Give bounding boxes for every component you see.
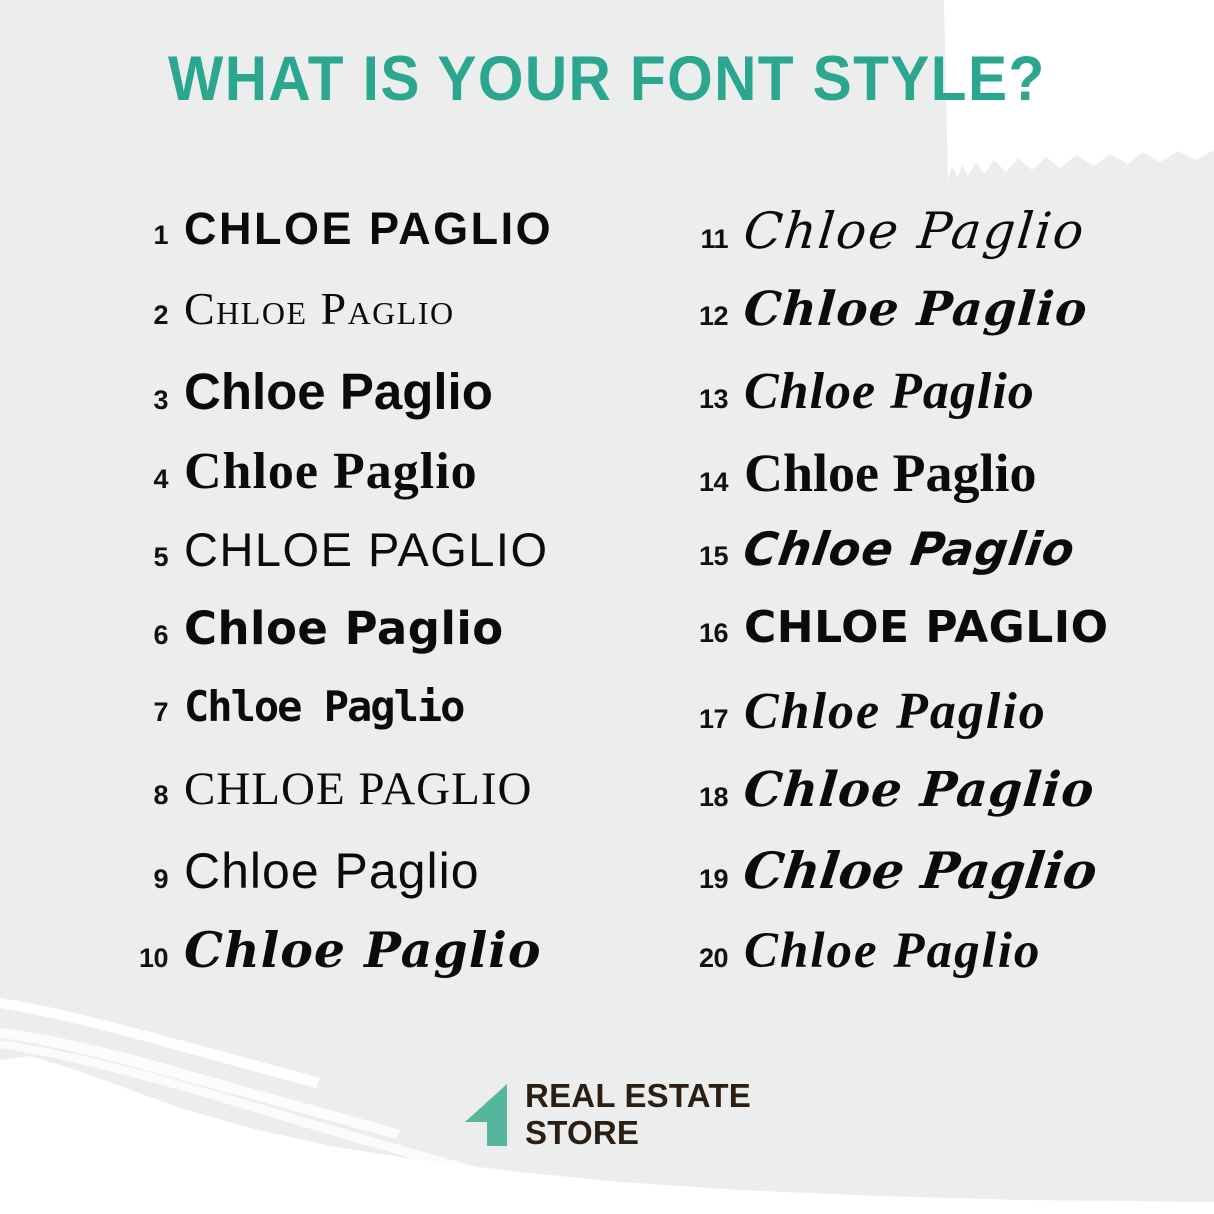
font-column-right: 11 Chloe Paglio 12 Chloe Paglio 13 Chloe…	[688, 206, 1108, 1026]
font-column-left: 1 CHLOE PAGLIO 2 Chloe Paglio 3 Chloe Pa…	[128, 206, 688, 1026]
font-sample-text: CHLOE PAGLIO	[184, 526, 549, 573]
font-sample-text: CHLOE PAGLIO	[184, 206, 553, 251]
font-sample-row[interactable]: 20 Chloe Paglio	[688, 926, 1108, 1006]
font-sample-text: Chloe Paglio	[741, 846, 1100, 896]
font-sample-row[interactable]: 9 Chloe Paglio	[128, 846, 688, 926]
font-sample-row[interactable]: 14 Chloe Paglio	[688, 446, 1108, 526]
font-sample-row[interactable]: 13 Chloe Paglio	[688, 366, 1108, 446]
font-sample-row[interactable]: 3 Chloe Paglio	[128, 366, 688, 446]
font-sample-row[interactable]: 1 CHLOE PAGLIO	[128, 206, 688, 286]
font-sample-text: Chloe Paglio	[184, 606, 504, 651]
font-sample-row[interactable]: 8 CHLOE PAGLIO	[128, 766, 688, 846]
font-sample-number: 11	[688, 224, 744, 255]
font-sample-text: Chloe Paglio	[744, 366, 1035, 418]
font-sample-text: CHLOE PAGLIO	[184, 766, 532, 813]
font-sample-row[interactable]: 2 Chloe Paglio	[128, 286, 688, 366]
font-sample-text: Chloe Paglio	[744, 446, 1037, 500]
font-sample-row[interactable]: 16 CHLOE PAGLIO	[688, 606, 1108, 686]
brand-logo-line-1: REAL ESTATE	[525, 1078, 751, 1115]
brand-logo-text: REAL ESTATE STORE	[525, 1078, 751, 1152]
font-sample-text: Chloe Paglio	[184, 286, 455, 332]
font-sample-row[interactable]: 11 Chloe Paglio	[688, 206, 1108, 286]
font-sample-number: 13	[688, 384, 744, 415]
font-sample-number: 3	[128, 385, 184, 416]
font-sample-text: Chloe Paglio	[741, 526, 1078, 572]
font-sample-number: 18	[688, 782, 744, 813]
font-sample-row[interactable]: 12 Chloe Paglio	[688, 286, 1108, 366]
font-sample-text: Chloe Paglio	[184, 686, 463, 728]
brand-logo-inner: REAL ESTATE STORE	[463, 1078, 751, 1152]
font-sample-text: Chloe Paglio	[742, 286, 1089, 333]
font-sample-columns: 1 CHLOE PAGLIO 2 Chloe Paglio 3 Chloe Pa…	[0, 206, 1214, 1026]
font-sample-number: 7	[128, 697, 184, 728]
font-sample-row[interactable]: 10 Chloe Paglio	[128, 926, 688, 1006]
page-title: WHAT IS YOUR FONT STYLE?	[168, 48, 1046, 111]
house-roof-icon	[463, 1082, 511, 1148]
font-sample-row[interactable]: 7 Chloe Paglio	[128, 686, 688, 766]
font-sample-number: 16	[688, 618, 744, 649]
font-sample-text: CHLOE PAGLIO	[744, 606, 1109, 650]
font-sample-text: Chloe Paglio	[741, 206, 1088, 256]
font-sample-number: 9	[128, 864, 184, 895]
font-sample-row[interactable]: 18 Chloe Paglio	[688, 766, 1108, 846]
font-sample-number: 10	[128, 943, 184, 974]
font-sample-number: 19	[688, 864, 744, 895]
brand-logo-line-2: STORE	[525, 1115, 751, 1152]
font-sample-number: 5	[128, 542, 184, 573]
font-sample-row[interactable]: 6 Chloe Paglio	[128, 606, 688, 686]
brand-logo[interactable]: REAL ESTATE STORE	[0, 1078, 1214, 1152]
font-sample-row[interactable]: 5 CHLOE PAGLIO	[128, 526, 688, 606]
font-sample-number: 6	[128, 620, 184, 651]
font-sample-text: Chloe Paglio	[184, 926, 542, 975]
page-title-container: WHAT IS YOUR FONT STYLE?	[0, 48, 1214, 111]
font-sample-text: Chloe Paglio	[184, 446, 478, 498]
font-sample-text: Chloe Paglio	[744, 686, 1047, 738]
font-sample-number: 15	[688, 541, 744, 572]
font-sample-row[interactable]: 4 Chloe Paglio	[128, 446, 688, 526]
font-sample-number: 14	[688, 467, 744, 498]
font-sample-text: Chloe Paglio	[184, 366, 493, 417]
font-sample-number: 1	[128, 220, 184, 251]
font-sample-row[interactable]: 17 Chloe Paglio	[688, 686, 1108, 766]
font-sample-text: Chloe Paglio	[184, 846, 480, 896]
font-sample-number: 12	[688, 301, 744, 332]
font-sample-text: Chloe Paglio	[744, 926, 1041, 977]
font-sample-row[interactable]: 19 Chloe Paglio	[688, 846, 1108, 926]
font-sample-text: Chloe Paglio	[742, 766, 1097, 814]
font-sample-number: 20	[688, 943, 744, 974]
font-sample-row[interactable]: 15 Chloe Paglio	[688, 526, 1108, 606]
font-sample-number: 17	[688, 704, 744, 735]
font-sample-number: 2	[128, 300, 184, 331]
font-sample-number: 8	[128, 780, 184, 811]
font-sample-number: 4	[128, 464, 184, 495]
